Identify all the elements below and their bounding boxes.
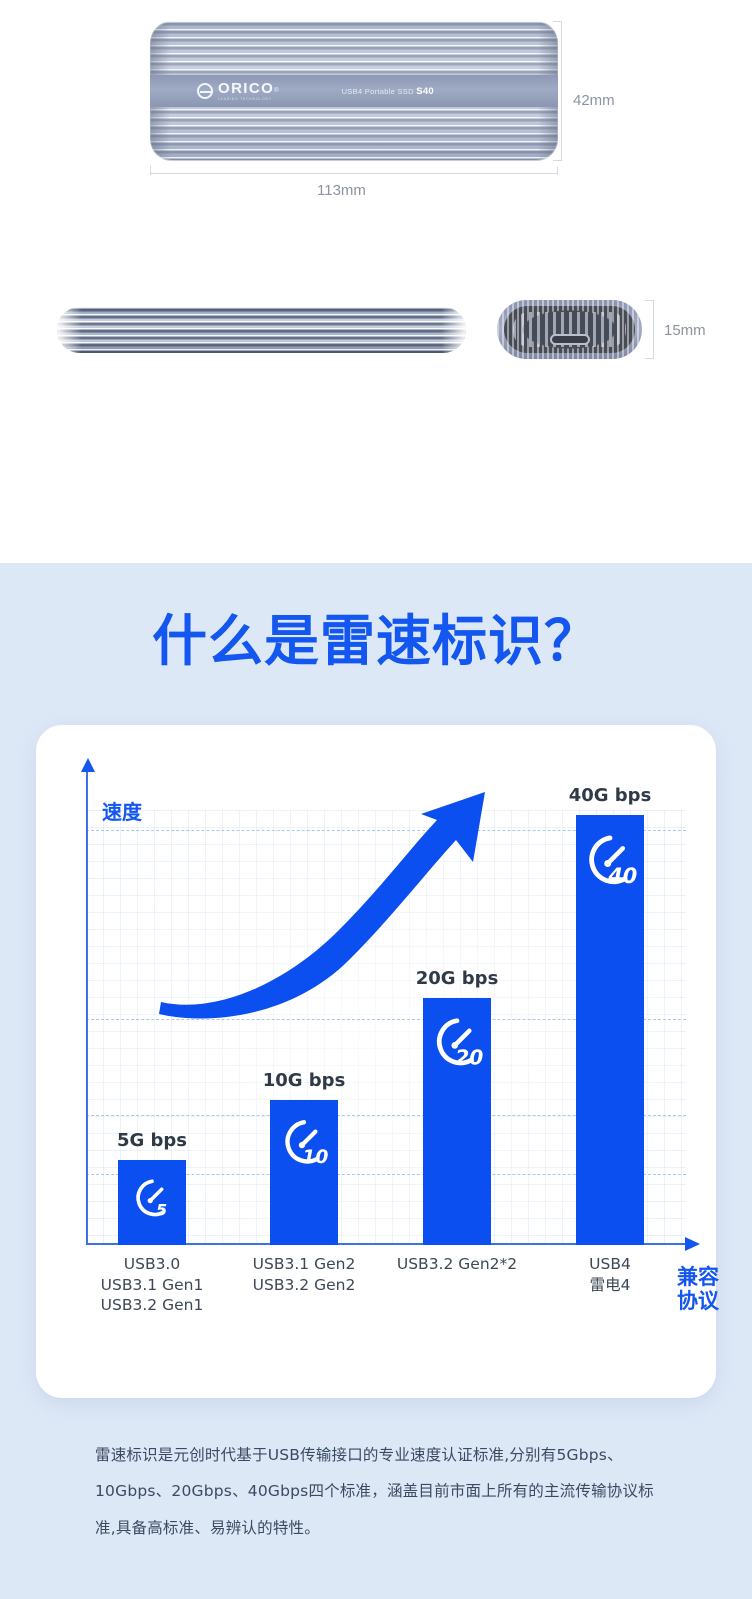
speed-standard-section: 什么是雷速标识？ 速度 兼容协议	[0, 563, 752, 1599]
product-side-view	[57, 307, 466, 353]
x-axis-arrow-icon	[685, 1237, 700, 1251]
gauge-number: 10	[302, 1147, 328, 1168]
brand-tagline: LEADING TECHNOLOGY	[218, 98, 274, 101]
dim-width-tick-right	[557, 166, 558, 175]
bar-usb4[interactable]: 40G bps 40 USB4 雷电4	[576, 815, 644, 1245]
bar-value-label: 40G bps	[569, 785, 652, 806]
gauge-number: 5	[156, 1201, 167, 1220]
dim-depth-tick-bottom	[645, 358, 654, 359]
speed-gauge-icon: 5	[130, 1176, 174, 1220]
brand-name: ORICO	[218, 81, 274, 96]
dim-depth-label: 15mm	[664, 322, 706, 339]
bar-value-label: 10G bps	[263, 1070, 346, 1091]
dim-width-label: 113mm	[317, 182, 366, 199]
speed-gauge-icon: 40	[581, 831, 639, 889]
y-axis	[86, 770, 88, 1245]
bar-category-label: USB3.0 USB3.1 Gen1 USB3.2 Gen1	[101, 1254, 204, 1316]
bar-category-label: USB3.2 Gen2*2	[397, 1254, 517, 1275]
cat-line: 雷电4	[589, 1275, 631, 1296]
section-description: 雷速标识是元创时代基于USB传输接口的专业速度认证标准,分别有5Gbps、10G…	[95, 1437, 667, 1546]
dim-depth-tick-top	[645, 300, 654, 301]
brand-logo: ORICO LEADING TECHNOLOGY ®	[197, 81, 279, 101]
dim-width-line	[150, 173, 558, 174]
bar-usb31gen2[interactable]: 10G bps 10 USB3.1 Gen2 USB3.2 Gen2	[270, 1100, 338, 1245]
product-gallery-section: ORICO LEADING TECHNOLOGY ® USB4 Portable…	[0, 0, 752, 563]
bar-usb32gen2x2[interactable]: 20G bps 20 USB3.2 Gen2*2	[423, 998, 491, 1245]
product-end-view	[497, 300, 642, 359]
bar-category-label: USB3.1 Gen2 USB3.2 Gen2	[253, 1254, 356, 1295]
dim-width-tick-left	[150, 166, 151, 175]
model-name: S40	[416, 86, 434, 97]
gauge-number: 20	[455, 1045, 483, 1069]
product-model-text: USB4 Portable SSD S40	[342, 86, 434, 97]
usb-c-port-icon	[550, 334, 590, 345]
gauge-number: 40	[607, 864, 637, 888]
bar-usb30[interactable]: 5G bps 5 USB3.0 USB3.1 Gen1 USB3.2 Gen1	[118, 1160, 186, 1245]
registered-mark: ®	[274, 88, 278, 94]
cat-line: USB3.1 Gen1	[101, 1275, 204, 1296]
page-root: ORICO LEADING TECHNOLOGY ® USB4 Portable…	[0, 0, 752, 1599]
orico-logo-icon	[197, 83, 213, 99]
bar-category-label: USB4 雷电4	[589, 1254, 631, 1295]
section-headline: 什么是雷速标识？	[0, 596, 752, 676]
speed-gauge-icon: 10	[278, 1116, 330, 1168]
bar-value-label: 5G bps	[117, 1130, 187, 1151]
speed-chart-card: 速度 兼容协议 5G bps 5 USB3.0	[36, 725, 716, 1398]
y-axis-arrow-icon	[81, 758, 95, 772]
cat-line: USB3.2 Gen2*2	[397, 1254, 517, 1275]
product-label-band: ORICO LEADING TECHNOLOGY ® USB4 Portable…	[150, 75, 558, 107]
bar-value-label: 20G bps	[416, 968, 499, 989]
cat-line: USB3.2 Gen1	[101, 1295, 204, 1316]
y-axis-label: 速度	[102, 796, 142, 825]
chart-plot-area: 速度 兼容协议 5G bps 5 USB3.0	[78, 760, 678, 1275]
cat-line: USB3.0	[101, 1254, 204, 1275]
dim-height-line	[561, 21, 562, 161]
dim-height-label: 42mm	[573, 92, 615, 109]
product-front-view: ORICO LEADING TECHNOLOGY ® USB4 Portable…	[150, 21, 558, 161]
cat-line: USB3.2 Gen2	[253, 1275, 356, 1296]
end-ridge-texture	[497, 300, 642, 359]
cat-line: USB3.1 Gen2	[253, 1254, 356, 1275]
x-axis-label: 兼容协议	[677, 1265, 733, 1313]
dim-height-tick-bottom	[553, 160, 562, 161]
dim-depth-line	[653, 300, 654, 359]
model-prefix: USB4 Portable SSD	[342, 87, 417, 96]
cat-line: USB4	[589, 1254, 631, 1275]
speed-gauge-icon: 20	[429, 1014, 485, 1070]
dim-height-tick-top	[553, 21, 562, 22]
